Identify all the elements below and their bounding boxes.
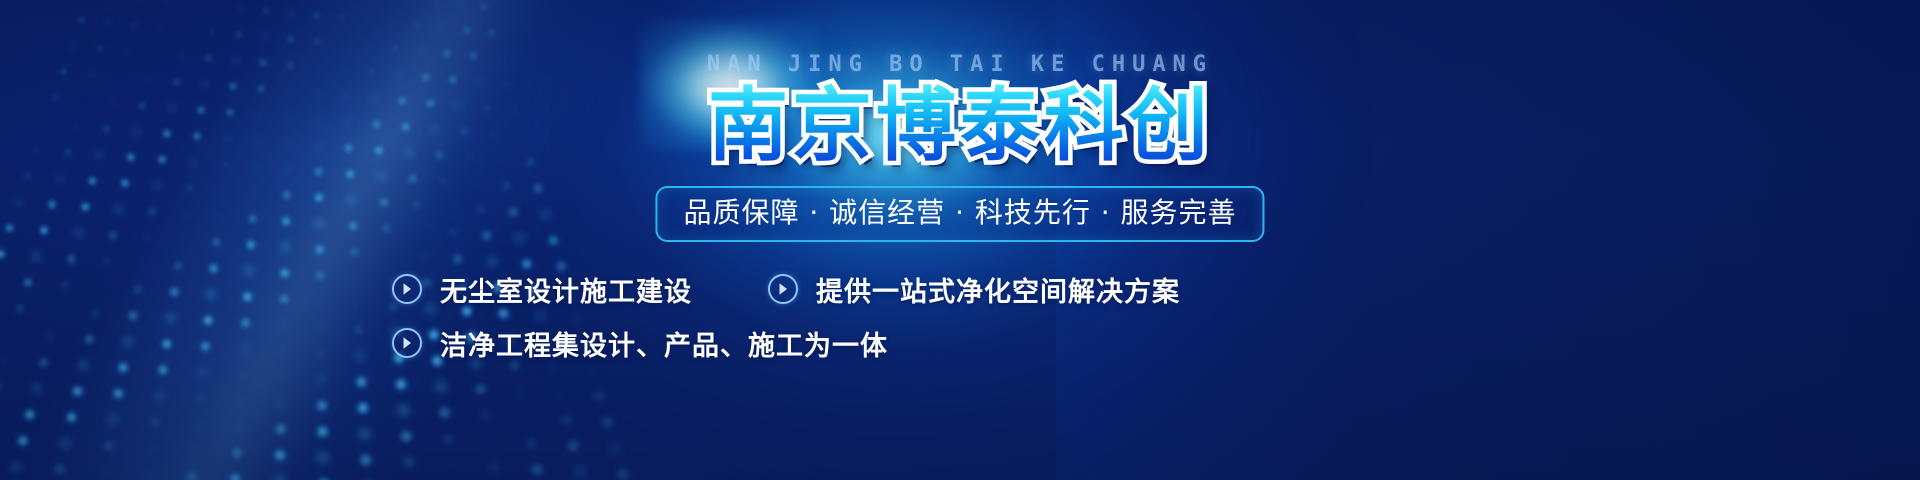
feature-item-one-stop-solution: 提供一站式净化空间解决方案: [768, 270, 1180, 309]
chevron-right-circle-icon: [768, 274, 798, 304]
pinyin-subtitle: NAN JING BO TAI KE CHUANG: [0, 52, 1920, 77]
chevron-right-circle-icon: [392, 274, 422, 304]
slogan-text: 品质保障 · 诚信经营 · 科技先行 · 服务完善: [683, 197, 1236, 229]
feature-item-cleanroom-construction: 无尘室设计施工建设: [392, 270, 768, 309]
slogan-box: 品质保障 · 诚信经营 · 科技先行 · 服务完善: [655, 186, 1264, 242]
company-title-fill: 南京博泰科创: [708, 79, 1212, 172]
feature-label: 洁净工程集设计、产品、施工为一体: [440, 324, 888, 363]
feature-row-top: 无尘室设计施工建设 提供一站式净化空间解决方案: [392, 262, 1492, 316]
promotional-banner: NAN JING BO TAI KE CHUANG 南京博泰科创 南京博泰科创 …: [0, 0, 1920, 480]
feature-list: 无尘室设计施工建设 提供一站式净化空间解决方案: [392, 262, 1492, 370]
company-title-wrapper: 南京博泰科创 南京博泰科创: [0, 80, 1920, 172]
feature-label: 提供一站式净化空间解决方案: [816, 270, 1180, 309]
feature-item-integrated-engineering: 洁净工程集设计、产品、施工为一体: [392, 324, 888, 363]
feature-label: 无尘室设计施工建设: [440, 270, 692, 309]
company-title: 南京博泰科创 南京博泰科创: [708, 80, 1212, 172]
feature-row-bottom: 洁净工程集设计、产品、施工为一体: [392, 316, 1492, 370]
banner-content: NAN JING BO TAI KE CHUANG 南京博泰科创 南京博泰科创 …: [0, 0, 1920, 480]
chevron-right-circle-icon: [392, 328, 422, 358]
